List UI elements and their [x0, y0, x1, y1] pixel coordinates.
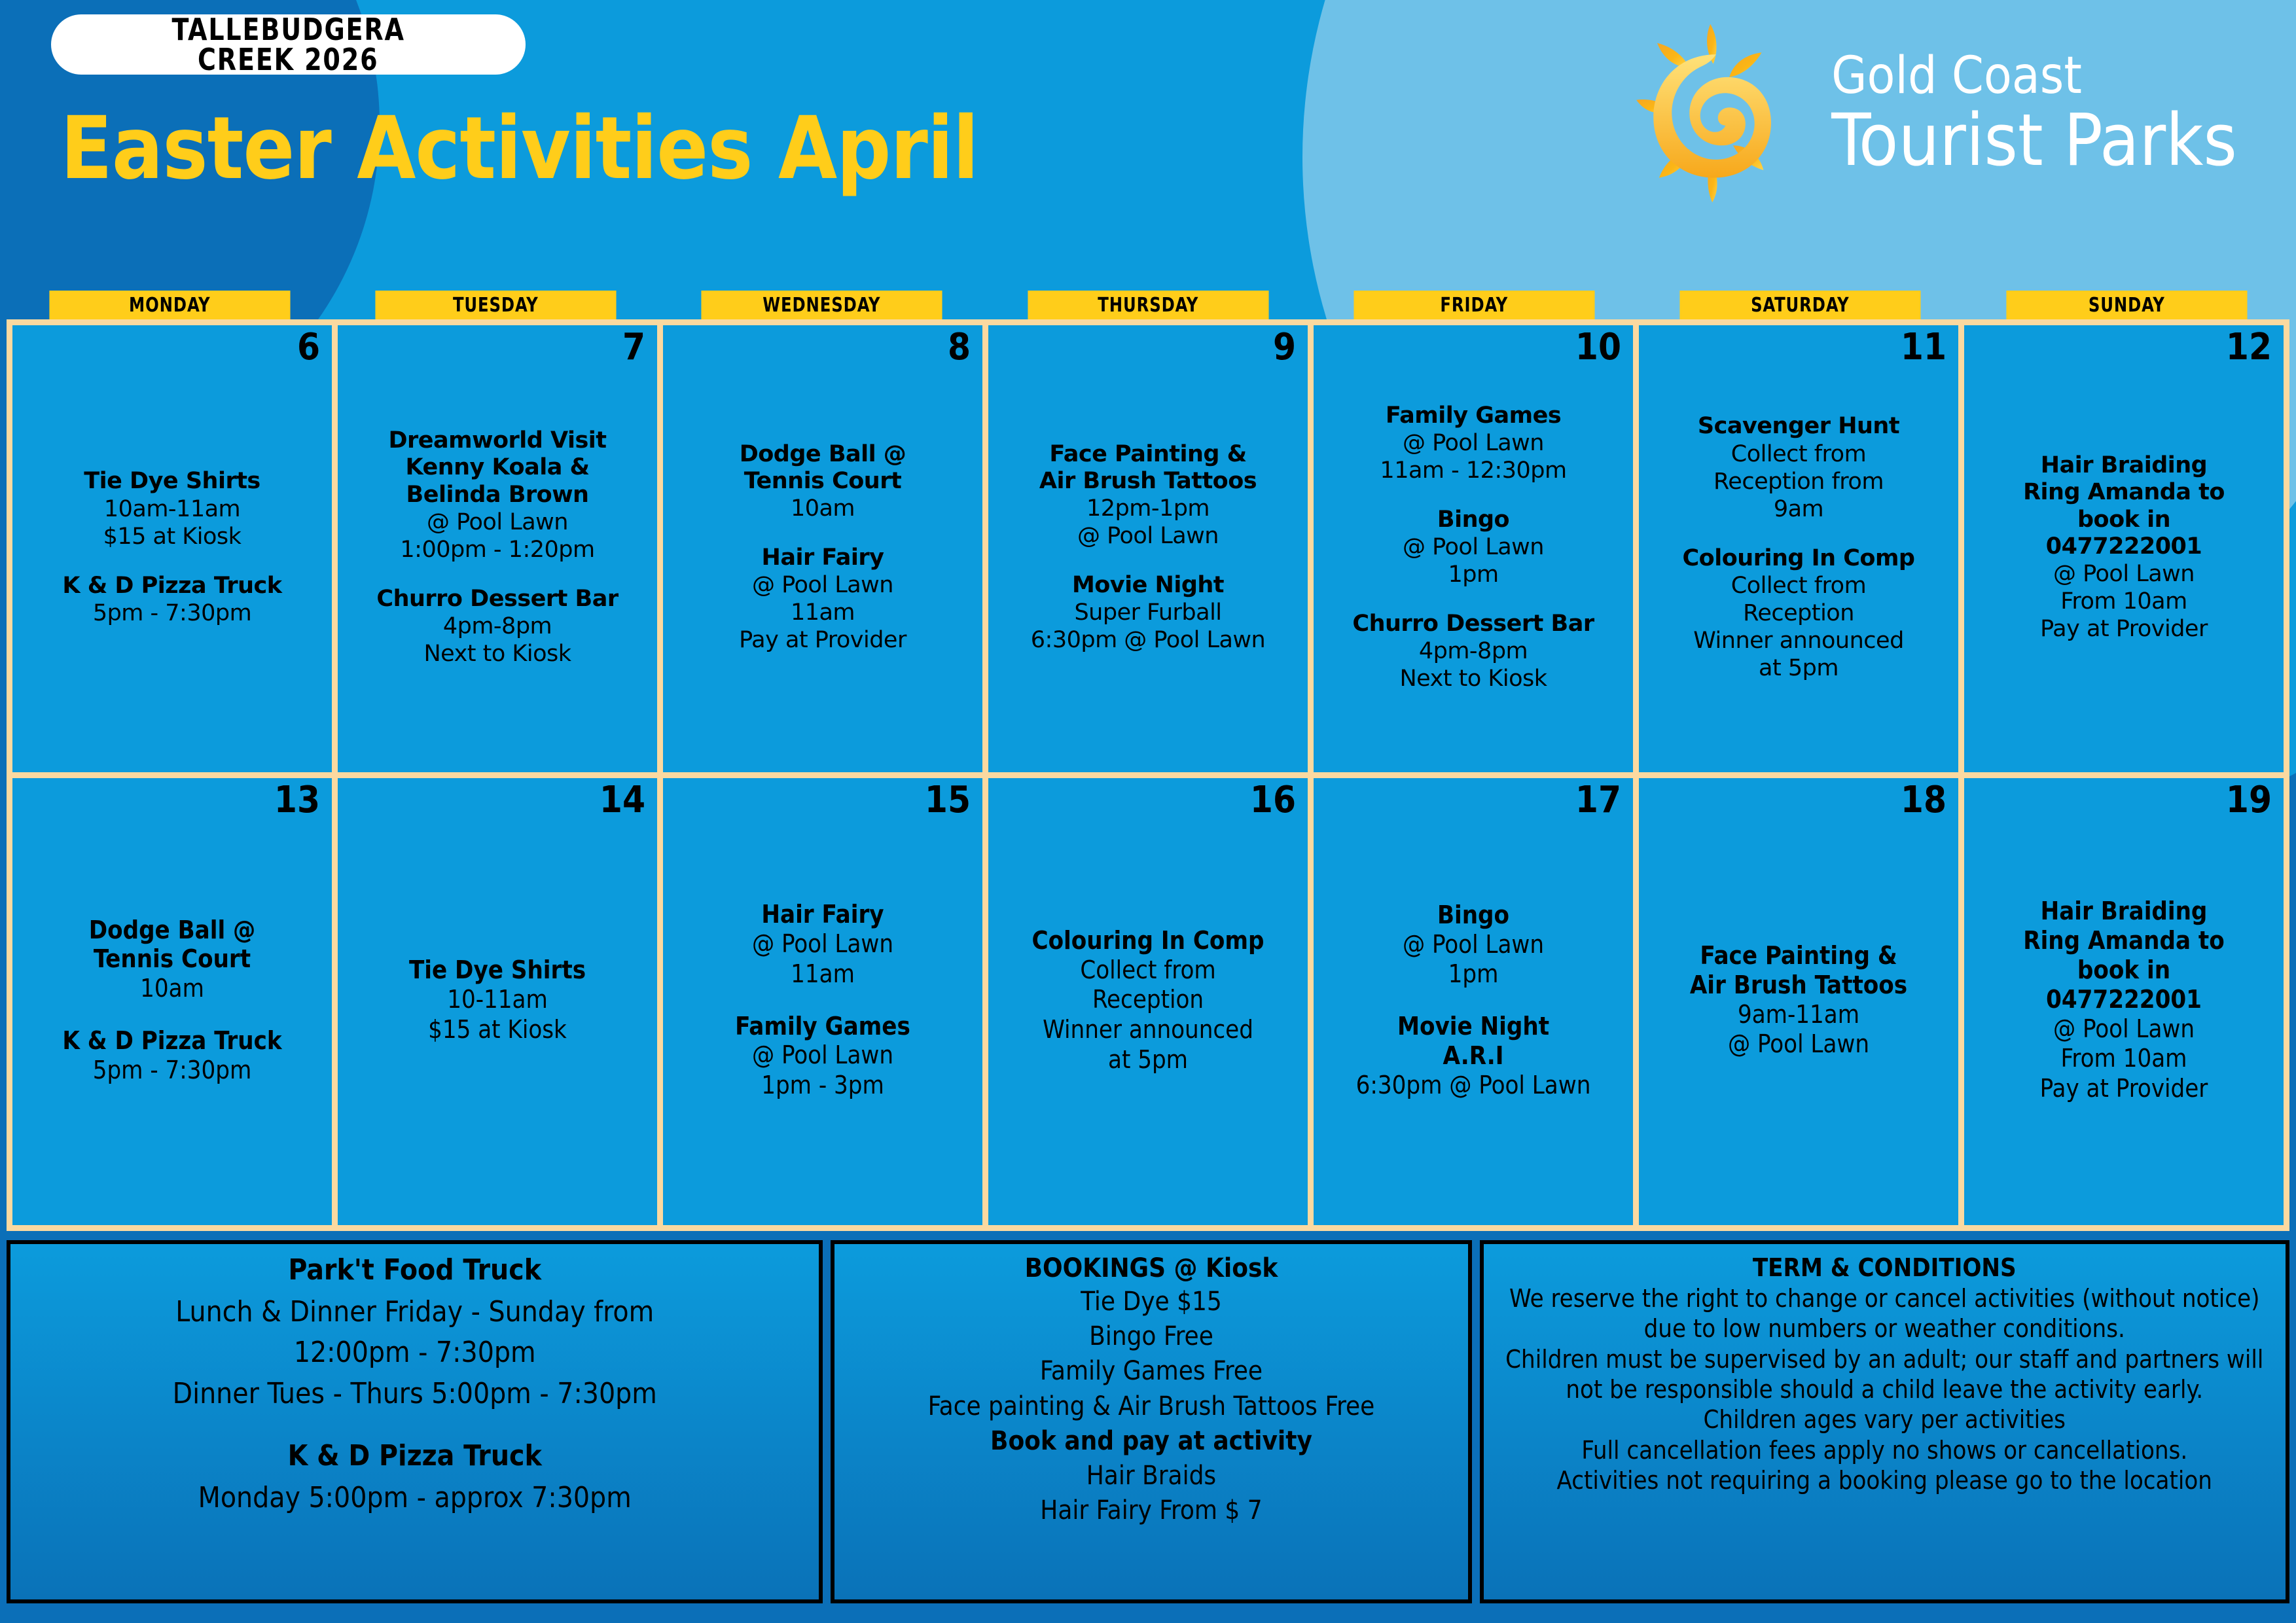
- cell-events: Dodge Ball @Tennis Court10amHair Fairy@ …: [670, 441, 976, 654]
- event-detail: 11am: [670, 599, 976, 626]
- day-number: 7: [622, 329, 645, 366]
- event-detail: 4pm-8pm: [1320, 637, 1626, 665]
- terms-info-box: TERM & CONDITIONS We reserve the right t…: [1480, 1240, 2289, 1603]
- bookings-line: Bingo Free: [928, 1319, 1375, 1354]
- event-block: Churro Dessert Bar4pm-8pmNext to Kiosk: [1320, 611, 1626, 692]
- day-tab-wrap-0: MONDAY: [7, 288, 332, 319]
- terms-line: We reserve the right to change or cancel…: [1494, 1283, 2275, 1344]
- pizza-truck-line: Monday 5:00pm - approx 7:30pm: [198, 1478, 632, 1518]
- calendar-cell-6: 6Tie Dye Shirts10am-11am$15 at KioskK & …: [12, 325, 332, 772]
- event-block: Hair BraidingRing Amanda tobook in047722…: [1971, 897, 2277, 1103]
- event-detail: 11am - 12:30pm: [1320, 457, 1626, 484]
- page-title: Easter Activities April: [60, 98, 978, 199]
- calendar-grid: 6Tie Dye Shirts10am-11am$15 at KioskK & …: [7, 319, 2289, 1231]
- park-name-badge: TALLEBUDGERA CREEK 2026: [51, 14, 526, 75]
- event-block: Tie Dye Shirts10-11am$15 at Kiosk: [344, 955, 651, 1044]
- event-title: Dodge Ball @: [19, 916, 325, 945]
- day-number: 9: [1273, 329, 1296, 366]
- event-detail: 10am: [19, 974, 325, 1004]
- calendar-cell-8: 8Dodge Ball @Tennis Court10amHair Fairy@…: [663, 325, 982, 772]
- day-tab-saturday: SATURDAY: [1680, 291, 1921, 319]
- event-title: Movie Night: [1320, 1012, 1626, 1041]
- day-number: 6: [297, 329, 320, 366]
- day-number: 10: [1575, 329, 1621, 366]
- event-detail: @ Pool Lawn: [1971, 1014, 2277, 1044]
- event-detail: Super Furball: [995, 599, 1301, 626]
- event-detail: 6:30pm @ Pool Lawn: [995, 626, 1301, 654]
- poster-header: TALLEBUDGERA CREEK 2026 Easter Activitie…: [0, 0, 2296, 288]
- bookings-line: Tie Dye $15: [928, 1285, 1375, 1319]
- event-detail: Winner announced: [1645, 627, 1952, 654]
- day-number: 16: [1250, 782, 1296, 819]
- event-title: Air Brush Tattoos: [1645, 971, 1952, 1000]
- calendar-cell-17: 17Bingo@ Pool Lawn1pmMovie NightA.R.I6:3…: [1314, 778, 1633, 1225]
- day-tab-wrap-6: SUNDAY: [1964, 288, 2289, 319]
- cell-events: Tie Dye Shirts10-11am$15 at Kiosk: [344, 955, 651, 1044]
- event-detail: at 5pm: [995, 1045, 1301, 1075]
- food-truck-info-box: Park't Food Truck Lunch & Dinner Friday …: [7, 1240, 823, 1603]
- terms-line: Full cancellation fees apply no shows or…: [1494, 1435, 2275, 1465]
- event-detail: 1pm - 3pm: [670, 1071, 976, 1101]
- food-truck-line: Dinner Tues - Thurs 5:00pm - 7:30pm: [173, 1374, 657, 1414]
- event-block: Family Games@ Pool Lawn11am - 12:30pm: [1320, 402, 1626, 484]
- event-detail: 4pm-8pm: [344, 613, 651, 640]
- day-tab-sunday: SUNDAY: [2006, 291, 2247, 319]
- calendar-cell-12: 12Hair BraidingRing Amanda tobook in0477…: [1964, 325, 2284, 772]
- brand-line-2: Tourist Parks: [1831, 104, 2237, 176]
- cell-events: Colouring In CompCollect fromReceptionWi…: [995, 926, 1301, 1075]
- sun-logo-icon: [1619, 18, 1809, 208]
- event-detail: From 10am: [1971, 1044, 2277, 1074]
- event-title: 0477222001: [1971, 533, 2277, 560]
- day-number: 15: [925, 782, 971, 819]
- event-detail: Pay at Provider: [1971, 1074, 2277, 1104]
- bookings-bold-note: Book and pay at activity: [990, 1424, 1312, 1459]
- event-detail: 10am-11am: [19, 495, 325, 523]
- day-number: 13: [274, 782, 320, 819]
- park-name-line1: TALLEBUDGERA: [171, 14, 404, 45]
- terms-line: Activities not requiring a booking pleas…: [1494, 1465, 2275, 1495]
- cell-events: Tie Dye Shirts10am-11am$15 at KioskK & D…: [19, 468, 325, 627]
- day-tab-wrap-4: FRIDAY: [1311, 288, 1637, 319]
- event-detail: 9am: [1645, 495, 1952, 523]
- event-title: Colouring In Comp: [1645, 545, 1952, 572]
- event-title: K & D Pizza Truck: [19, 1026, 325, 1056]
- event-title: Tie Dye Shirts: [344, 955, 651, 985]
- event-title: Tennis Court: [19, 944, 325, 974]
- park-name-line2: CREEK 2026: [198, 45, 378, 75]
- day-tab-wrap-2: WEDNESDAY: [659, 288, 985, 319]
- day-number: 17: [1575, 782, 1621, 819]
- event-detail: 1:00pm - 1:20pm: [344, 536, 651, 563]
- event-detail: @ Pool Lawn: [1320, 533, 1626, 561]
- event-detail: Winner announced: [995, 1015, 1301, 1045]
- event-block: Dreamworld VisitKenny Koala &Belinda Bro…: [344, 427, 651, 563]
- event-title: Face Painting &: [995, 441, 1301, 468]
- event-detail: Pay at Provider: [1971, 615, 2277, 643]
- event-block: Hair BraidingRing Amanda tobook in047722…: [1971, 452, 2277, 643]
- day-tab-monday: MONDAY: [49, 291, 290, 319]
- event-block: Bingo@ Pool Lawn1pm: [1320, 901, 1626, 990]
- bookings-line: Hair Fairy From $ 7: [1040, 1493, 1262, 1528]
- cell-events: Hair Fairy@ Pool Lawn11amFamily Games@ P…: [670, 900, 976, 1100]
- event-detail: @ Pool Lawn: [1320, 429, 1626, 457]
- event-title: book in: [1971, 507, 2277, 533]
- event-detail: 9am-11am: [1645, 1000, 1952, 1030]
- calendar-cell-15: 15Hair Fairy@ Pool Lawn11amFamily Games@…: [663, 778, 982, 1225]
- calendar-cell-19: 19Hair BraidingRing Amanda tobook in0477…: [1964, 778, 2284, 1225]
- event-title: Churro Dessert Bar: [344, 586, 651, 613]
- food-truck-lines: Lunch & Dinner Friday - Sunday from12:00…: [173, 1292, 657, 1414]
- event-detail: 5pm - 7:30pm: [19, 599, 325, 627]
- event-title: Movie Night: [995, 572, 1301, 599]
- event-detail: @ Pool Lawn: [344, 508, 651, 536]
- event-block: Dodge Ball @Tennis Court10am: [19, 916, 325, 1004]
- day-tab-thursday: THURSDAY: [1028, 291, 1268, 319]
- event-detail: $15 at Kiosk: [344, 1015, 651, 1045]
- cell-events: Hair BraidingRing Amanda tobook in047722…: [1971, 452, 2277, 643]
- food-truck-line: 12:00pm - 7:30pm: [173, 1332, 657, 1373]
- event-title: Hair Fairy: [670, 544, 976, 571]
- event-title: Tie Dye Shirts: [19, 468, 325, 495]
- food-truck-line: Lunch & Dinner Friday - Sunday from: [173, 1292, 657, 1332]
- event-block: Movie NightA.R.I6:30pm @ Pool Lawn: [1320, 1012, 1626, 1100]
- calendar-cell-16: 16Colouring In CompCollect fromReception…: [988, 778, 1308, 1225]
- bookings-title: BOOKINGS @ Kiosk: [1025, 1253, 1278, 1283]
- event-detail: @ Pool Lawn: [670, 571, 976, 599]
- event-block: Movie NightSuper Furball6:30pm @ Pool La…: [995, 572, 1301, 654]
- day-tab-wrap-3: THURSDAY: [985, 288, 1311, 319]
- event-block: Colouring In CompCollect fromReceptionWi…: [1645, 545, 1952, 682]
- event-title: Ring Amanda to: [1971, 926, 2277, 955]
- event-detail: @ Pool Lawn: [995, 522, 1301, 550]
- bookings-line: Family Games Free: [928, 1354, 1375, 1389]
- event-detail: 10-11am: [344, 985, 651, 1015]
- event-title: A.R.I: [1320, 1041, 1626, 1071]
- event-detail: 10am: [670, 495, 976, 522]
- event-detail: $15 at Kiosk: [19, 523, 325, 550]
- pizza-truck-lines: Monday 5:00pm - approx 7:30pm: [198, 1478, 632, 1518]
- event-title: 0477222001: [1971, 985, 2277, 1014]
- event-block: K & D Pizza Truck5pm - 7:30pm: [19, 1026, 325, 1085]
- event-block: Churro Dessert Bar4pm-8pmNext to Kiosk: [344, 586, 651, 668]
- event-title: K & D Pizza Truck: [19, 573, 325, 599]
- event-detail: @ Pool Lawn: [670, 929, 976, 959]
- event-block: Dodge Ball @Tennis Court10am: [670, 441, 976, 523]
- bookings-info-box: BOOKINGS @ Kiosk Tie Dye $15Bingo FreeFa…: [831, 1240, 1471, 1603]
- event-title: Bingo: [1320, 507, 1626, 533]
- event-block: Hair Fairy@ Pool Lawn11amPay at Provider: [670, 544, 976, 654]
- terms-title: TERM & CONDITIONS: [1753, 1253, 2017, 1282]
- event-title: Ring Amanda to: [1971, 479, 2277, 506]
- event-detail: Next to Kiosk: [344, 640, 651, 668]
- event-detail: @ Pool Lawn: [670, 1041, 976, 1071]
- cell-events: Scavenger HuntCollect fromReception from…: [1645, 413, 1952, 682]
- event-detail: Pay at Provider: [670, 626, 976, 654]
- event-detail: 5pm - 7:30pm: [19, 1056, 325, 1086]
- day-tab-tuesday: TUESDAY: [376, 291, 617, 319]
- bookings-lines-2: Hair BraidsHair Fairy From $ 7: [1040, 1459, 1262, 1528]
- day-number: 19: [2226, 782, 2272, 819]
- event-detail: Next to Kiosk: [1320, 665, 1626, 692]
- event-title: Hair Braiding: [1971, 452, 2277, 479]
- event-detail: @ Pool Lawn: [1645, 1029, 1952, 1060]
- event-block: Colouring In CompCollect fromReceptionWi…: [995, 926, 1301, 1075]
- brand-lockup: Gold Coast Tourist Parks: [1619, 18, 2237, 208]
- event-title: Face Painting &: [1645, 941, 1952, 971]
- event-title: Kenny Koala &: [344, 454, 651, 481]
- event-detail: at 5pm: [1645, 654, 1952, 682]
- event-detail: Collect from: [1645, 572, 1952, 599]
- event-block: Face Painting &Air Brush Tattoos9am-11am…: [1645, 941, 1952, 1060]
- event-detail: 11am: [670, 959, 976, 990]
- event-title: Bingo: [1320, 901, 1626, 930]
- event-block: Face Painting &Air Brush Tattoos12pm-1pm…: [995, 441, 1301, 550]
- event-detail: @ Pool Lawn: [1320, 930, 1626, 960]
- calendar-cell-7: 7Dreamworld VisitKenny Koala &Belinda Br…: [338, 325, 657, 772]
- calendar-cell-11: 11Scavenger HuntCollect fromReception fr…: [1639, 325, 1958, 772]
- terms-line: Children ages vary per activities: [1494, 1404, 2275, 1435]
- event-detail: From 10am: [1971, 588, 2277, 615]
- calendar-cell-14: 14Tie Dye Shirts10-11am$15 at Kiosk: [338, 778, 657, 1225]
- cell-events: Dreamworld VisitKenny Koala &Belinda Bro…: [344, 427, 651, 668]
- food-truck-title: Park't Food Truck: [288, 1253, 541, 1287]
- day-tab-friday: FRIDAY: [1354, 291, 1594, 319]
- day-tab-wrap-5: SATURDAY: [1637, 288, 1963, 319]
- event-block: Bingo@ Pool Lawn1pm: [1320, 507, 1626, 588]
- day-number: 8: [948, 329, 971, 366]
- cell-events: Hair BraidingRing Amanda tobook in047722…: [1971, 897, 2277, 1103]
- event-block: Scavenger HuntCollect fromReception from…: [1645, 413, 1952, 522]
- event-title: Dreamworld Visit: [344, 427, 651, 454]
- event-detail: 1pm: [1320, 561, 1626, 588]
- cell-events: Face Painting &Air Brush Tattoos12pm-1pm…: [995, 441, 1301, 654]
- pizza-truck-title: K & D Pizza Truck: [288, 1439, 542, 1472]
- event-title: Air Brush Tattoos: [995, 468, 1301, 495]
- event-block: K & D Pizza Truck5pm - 7:30pm: [19, 573, 325, 627]
- event-detail: Reception from: [1645, 468, 1952, 495]
- day-number: 14: [600, 782, 645, 819]
- day-tab-wrap-1: TUESDAY: [332, 288, 658, 319]
- event-block: Family Games@ Pool Lawn1pm - 3pm: [670, 1012, 976, 1101]
- event-detail: @ Pool Lawn: [1971, 560, 2277, 588]
- event-detail: Reception: [1645, 599, 1952, 627]
- calendar-cell-18: 18Face Painting &Air Brush Tattoos9am-11…: [1639, 778, 1958, 1225]
- event-title: Belinda Brown: [344, 482, 651, 508]
- day-number: 12: [2226, 329, 2272, 366]
- event-title: Hair Braiding: [1971, 897, 2277, 926]
- event-title: Dodge Ball @: [670, 441, 976, 468]
- cell-events: Face Painting &Air Brush Tattoos9am-11am…: [1645, 941, 1952, 1060]
- event-block: Tie Dye Shirts10am-11am$15 at Kiosk: [19, 468, 325, 550]
- calendar-cell-10: 10Family Games@ Pool Lawn11am - 12:30pmB…: [1314, 325, 1633, 772]
- terms-line: Children must be supervised by an adult;…: [1494, 1344, 2275, 1405]
- event-title: Tennis Court: [670, 468, 976, 495]
- bookings-line: Face painting & Air Brush Tattoos Free: [928, 1389, 1375, 1424]
- brand-line-1: Gold Coast: [1831, 50, 2237, 101]
- event-detail: Reception: [995, 985, 1301, 1015]
- day-number: 18: [1901, 782, 1946, 819]
- cell-events: Bingo@ Pool Lawn1pmMovie NightA.R.I6:30p…: [1320, 901, 1626, 1100]
- event-title: Hair Fairy: [670, 900, 976, 929]
- event-title: Churro Dessert Bar: [1320, 611, 1626, 637]
- event-detail: 1pm: [1320, 959, 1626, 990]
- day-number: 11: [1901, 329, 1946, 366]
- event-detail: Collect from: [995, 955, 1301, 986]
- footer-info-row: Park't Food Truck Lunch & Dinner Friday …: [7, 1240, 2289, 1603]
- cell-events: Dodge Ball @Tennis Court10amK & D Pizza …: [19, 916, 325, 1086]
- event-title: Colouring In Comp: [995, 926, 1301, 955]
- event-title: Family Games: [1320, 402, 1626, 429]
- cell-events: Family Games@ Pool Lawn11am - 12:30pmBin…: [1320, 402, 1626, 693]
- event-title: Family Games: [670, 1012, 976, 1041]
- event-title: book in: [1971, 955, 2277, 985]
- event-detail: 12pm-1pm: [995, 495, 1301, 522]
- day-tab-wednesday: WEDNESDAY: [702, 291, 942, 319]
- bookings-lines: Tie Dye $15Bingo FreeFamily Games FreeFa…: [928, 1285, 1375, 1424]
- terms-lines: We reserve the right to change or cancel…: [1494, 1283, 2275, 1496]
- event-block: Hair Fairy@ Pool Lawn11am: [670, 900, 976, 989]
- event-title: Scavenger Hunt: [1645, 413, 1952, 440]
- calendar-cell-13: 13Dodge Ball @Tennis Court10amK & D Pizz…: [12, 778, 332, 1225]
- event-detail: Collect from: [1645, 440, 1952, 468]
- calendar-cell-9: 9Face Painting &Air Brush Tattoos12pm-1p…: [988, 325, 1308, 772]
- bookings-line: Hair Braids: [1040, 1459, 1262, 1493]
- event-detail: 6:30pm @ Pool Lawn: [1320, 1071, 1626, 1101]
- day-header-row: MONDAYTUESDAYWEDNESDAYTHURSDAYFRIDAYSATU…: [0, 288, 2296, 319]
